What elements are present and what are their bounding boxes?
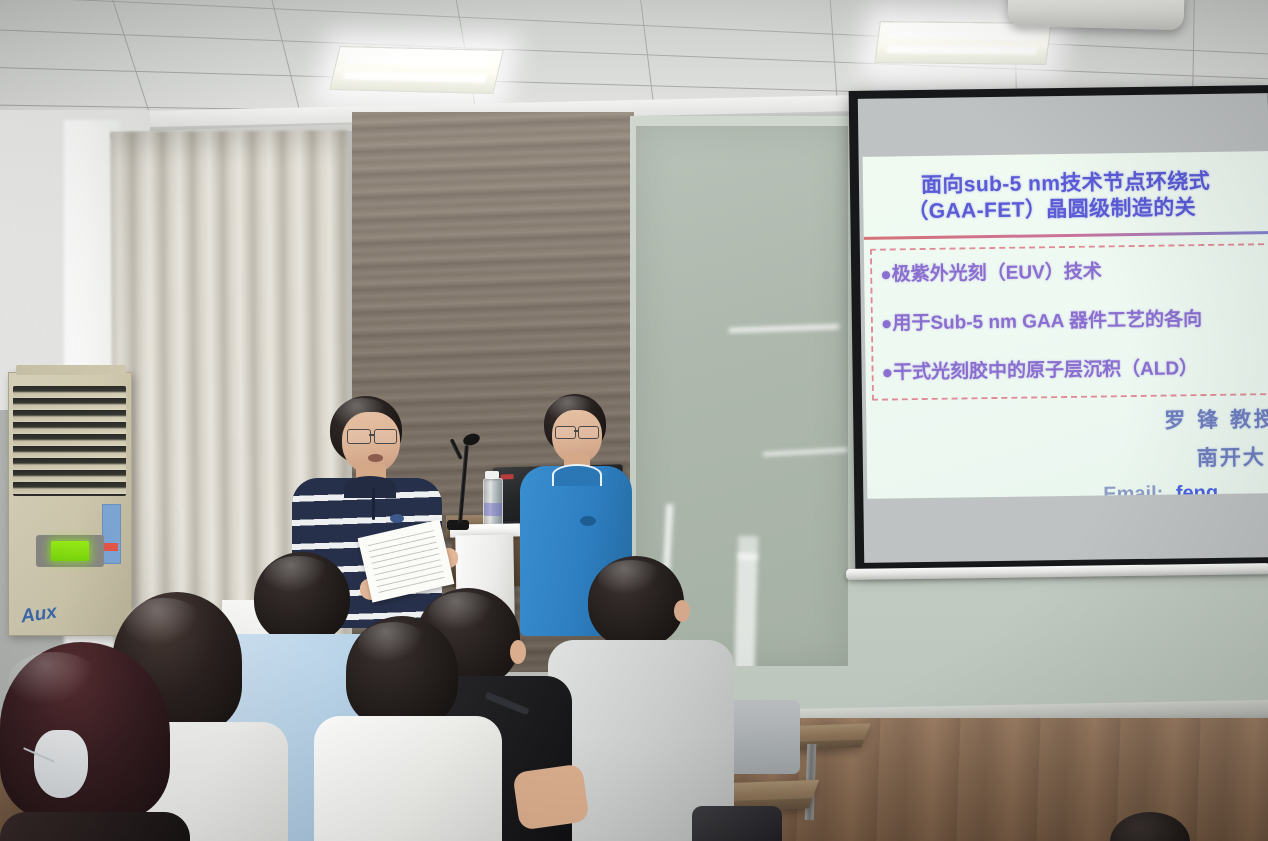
- presenter-glasses-right-lens: [578, 426, 599, 439]
- audience-white-tee-woman-torso: [314, 716, 502, 841]
- slide-bullet-1: ●极紫外光刻（EUV）技术: [880, 256, 1102, 286]
- host-glasses-bridge: [369, 434, 375, 436]
- slide-title-divider: [864, 231, 1268, 240]
- ac-louvers: [13, 386, 126, 496]
- audience-back-right-man: [1090, 812, 1260, 841]
- audience-gray-shirt-man-hair-highlight: [598, 560, 664, 598]
- lecture-hall-photo: Aux 面向sub-5 nm技术节点环绕式 （GAA-FET）晶圆级制造的关 ●…: [0, 0, 1268, 841]
- slide-title-line2: （GAA-FET）晶圆级制造的关: [907, 196, 1196, 224]
- ac-energy-label: [102, 504, 121, 564]
- presenter-glasses-bridge: [574, 430, 579, 432]
- ac-display-panel: [36, 535, 104, 566]
- audience-front-left-woman-hair-highlight: [8, 652, 100, 710]
- slide-email-label: Email:: [1103, 483, 1163, 499]
- projected-slide: 面向sub-5 nm技术节点环绕式 （GAA-FET）晶圆级制造的关 ●极紫外光…: [863, 151, 1268, 499]
- ac-top-cap: [16, 365, 126, 375]
- ceiling-panel-light-right: [874, 21, 1051, 65]
- audience-black-shirt-man-arm: [512, 763, 589, 830]
- ac-brand-mark: Aux: [20, 601, 59, 628]
- slide-affiliation: 南开大: [1197, 441, 1266, 472]
- audience-front-left-woman: [0, 642, 215, 841]
- audience-front-left-woman-torso: [0, 812, 190, 841]
- slide-presenter-name: 罗 锋 教授: [1164, 403, 1268, 435]
- host-placket: [372, 488, 375, 520]
- audience-black-shirt-man-ear: [510, 640, 526, 664]
- host-glasses-right-lens: [374, 429, 397, 444]
- slide-email-line: Email: feng: [1103, 482, 1218, 499]
- presenter-collar: [552, 464, 602, 486]
- projection-screen-surface: 面向sub-5 nm技术节点环绕式 （GAA-FET）晶圆级制造的关 ●极紫外光…: [858, 93, 1268, 563]
- water-bottle-podium: [483, 478, 503, 530]
- host-mouth: [368, 454, 383, 462]
- audience-white-tee-woman-hair-highlight: [358, 622, 428, 666]
- audience-gray-shirt-man-ear: [674, 600, 690, 622]
- host-glasses-left-lens: [347, 429, 371, 444]
- slide-bullet-2: ●用于Sub-5 nm GAA 器件工艺的各向: [881, 304, 1202, 335]
- audience-white-tee-woman: [314, 616, 504, 841]
- slide-bullet-3: ●干式光刻胶中的原子层沉积（ALD）: [881, 353, 1198, 384]
- host-chest-logo: [390, 514, 404, 523]
- slide-email-value: feng: [1176, 482, 1219, 499]
- presenter-glasses-left-lens: [555, 426, 576, 439]
- audience-light-blue-man-hair-highlight: [264, 556, 332, 596]
- water-bottle-podium-cap: [485, 471, 499, 479]
- ceiling-mounted-projector: [1008, 0, 1185, 30]
- bag-under-desk: [692, 806, 782, 841]
- audience-front-left-woman-mask: [34, 730, 88, 798]
- host-collar: [344, 476, 396, 498]
- ceiling-panel-light-left: [329, 46, 504, 94]
- presenter-chest-logo: [580, 516, 596, 526]
- ac-display-screen: [51, 541, 89, 560]
- audience-back-right-man-head: [1110, 812, 1190, 841]
- slide-title-line1: 面向sub-5 nm技术节点环绕式: [921, 170, 1210, 198]
